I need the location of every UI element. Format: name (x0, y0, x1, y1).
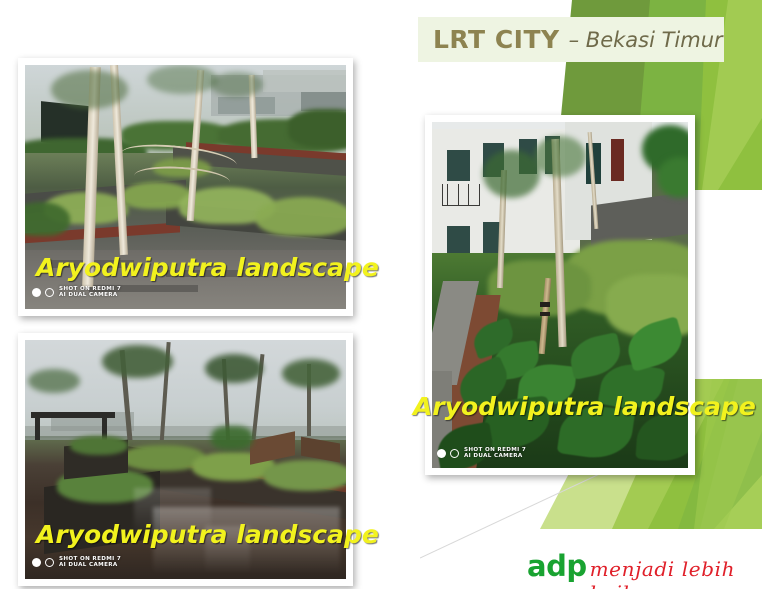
presentation-slide: LRT CITY – Bekasi Timur (0, 0, 762, 589)
camera-lens-icon (32, 288, 54, 297)
photo-2-camera-badge: SHOT ON REDMI 7 AI DUAL CAMERA (32, 556, 121, 568)
camera-lens-icon (32, 558, 54, 567)
photo-2-badge-line-2: AI DUAL CAMERA (59, 562, 121, 568)
logo-tagline-text: menjadi lebih baik (590, 557, 762, 589)
decorative-hairline (420, 470, 610, 560)
company-logo: adp menjadi lebih baik (527, 549, 762, 589)
photo-3-badge-line-2: AI DUAL CAMERA (464, 453, 526, 459)
photo-frame-philodendron-garden[interactable] (425, 115, 695, 475)
camera-lens-icon (437, 449, 459, 458)
photo-3-camera-badge: SHOT ON REDMI 7 AI DUAL CAMERA (437, 447, 526, 459)
slide-title-banner: LRT CITY – Bekasi Timur (418, 17, 724, 62)
photo-1-camera-badge: SHOT ON REDMI 7 AI DUAL CAMERA (32, 286, 121, 298)
photo-3-watermark: Aryodwiputra landscape (413, 392, 756, 421)
title-location-text: – Bekasi Timur (569, 28, 723, 52)
logo-brand-text: adp (527, 549, 587, 583)
photo-1-watermark: Aryodwiputra landscape (36, 253, 379, 282)
photo-1-badge-line-2: AI DUAL CAMERA (59, 292, 121, 298)
photo-2-watermark: Aryodwiputra landscape (36, 520, 379, 549)
title-main-text: LRT CITY (433, 25, 560, 54)
